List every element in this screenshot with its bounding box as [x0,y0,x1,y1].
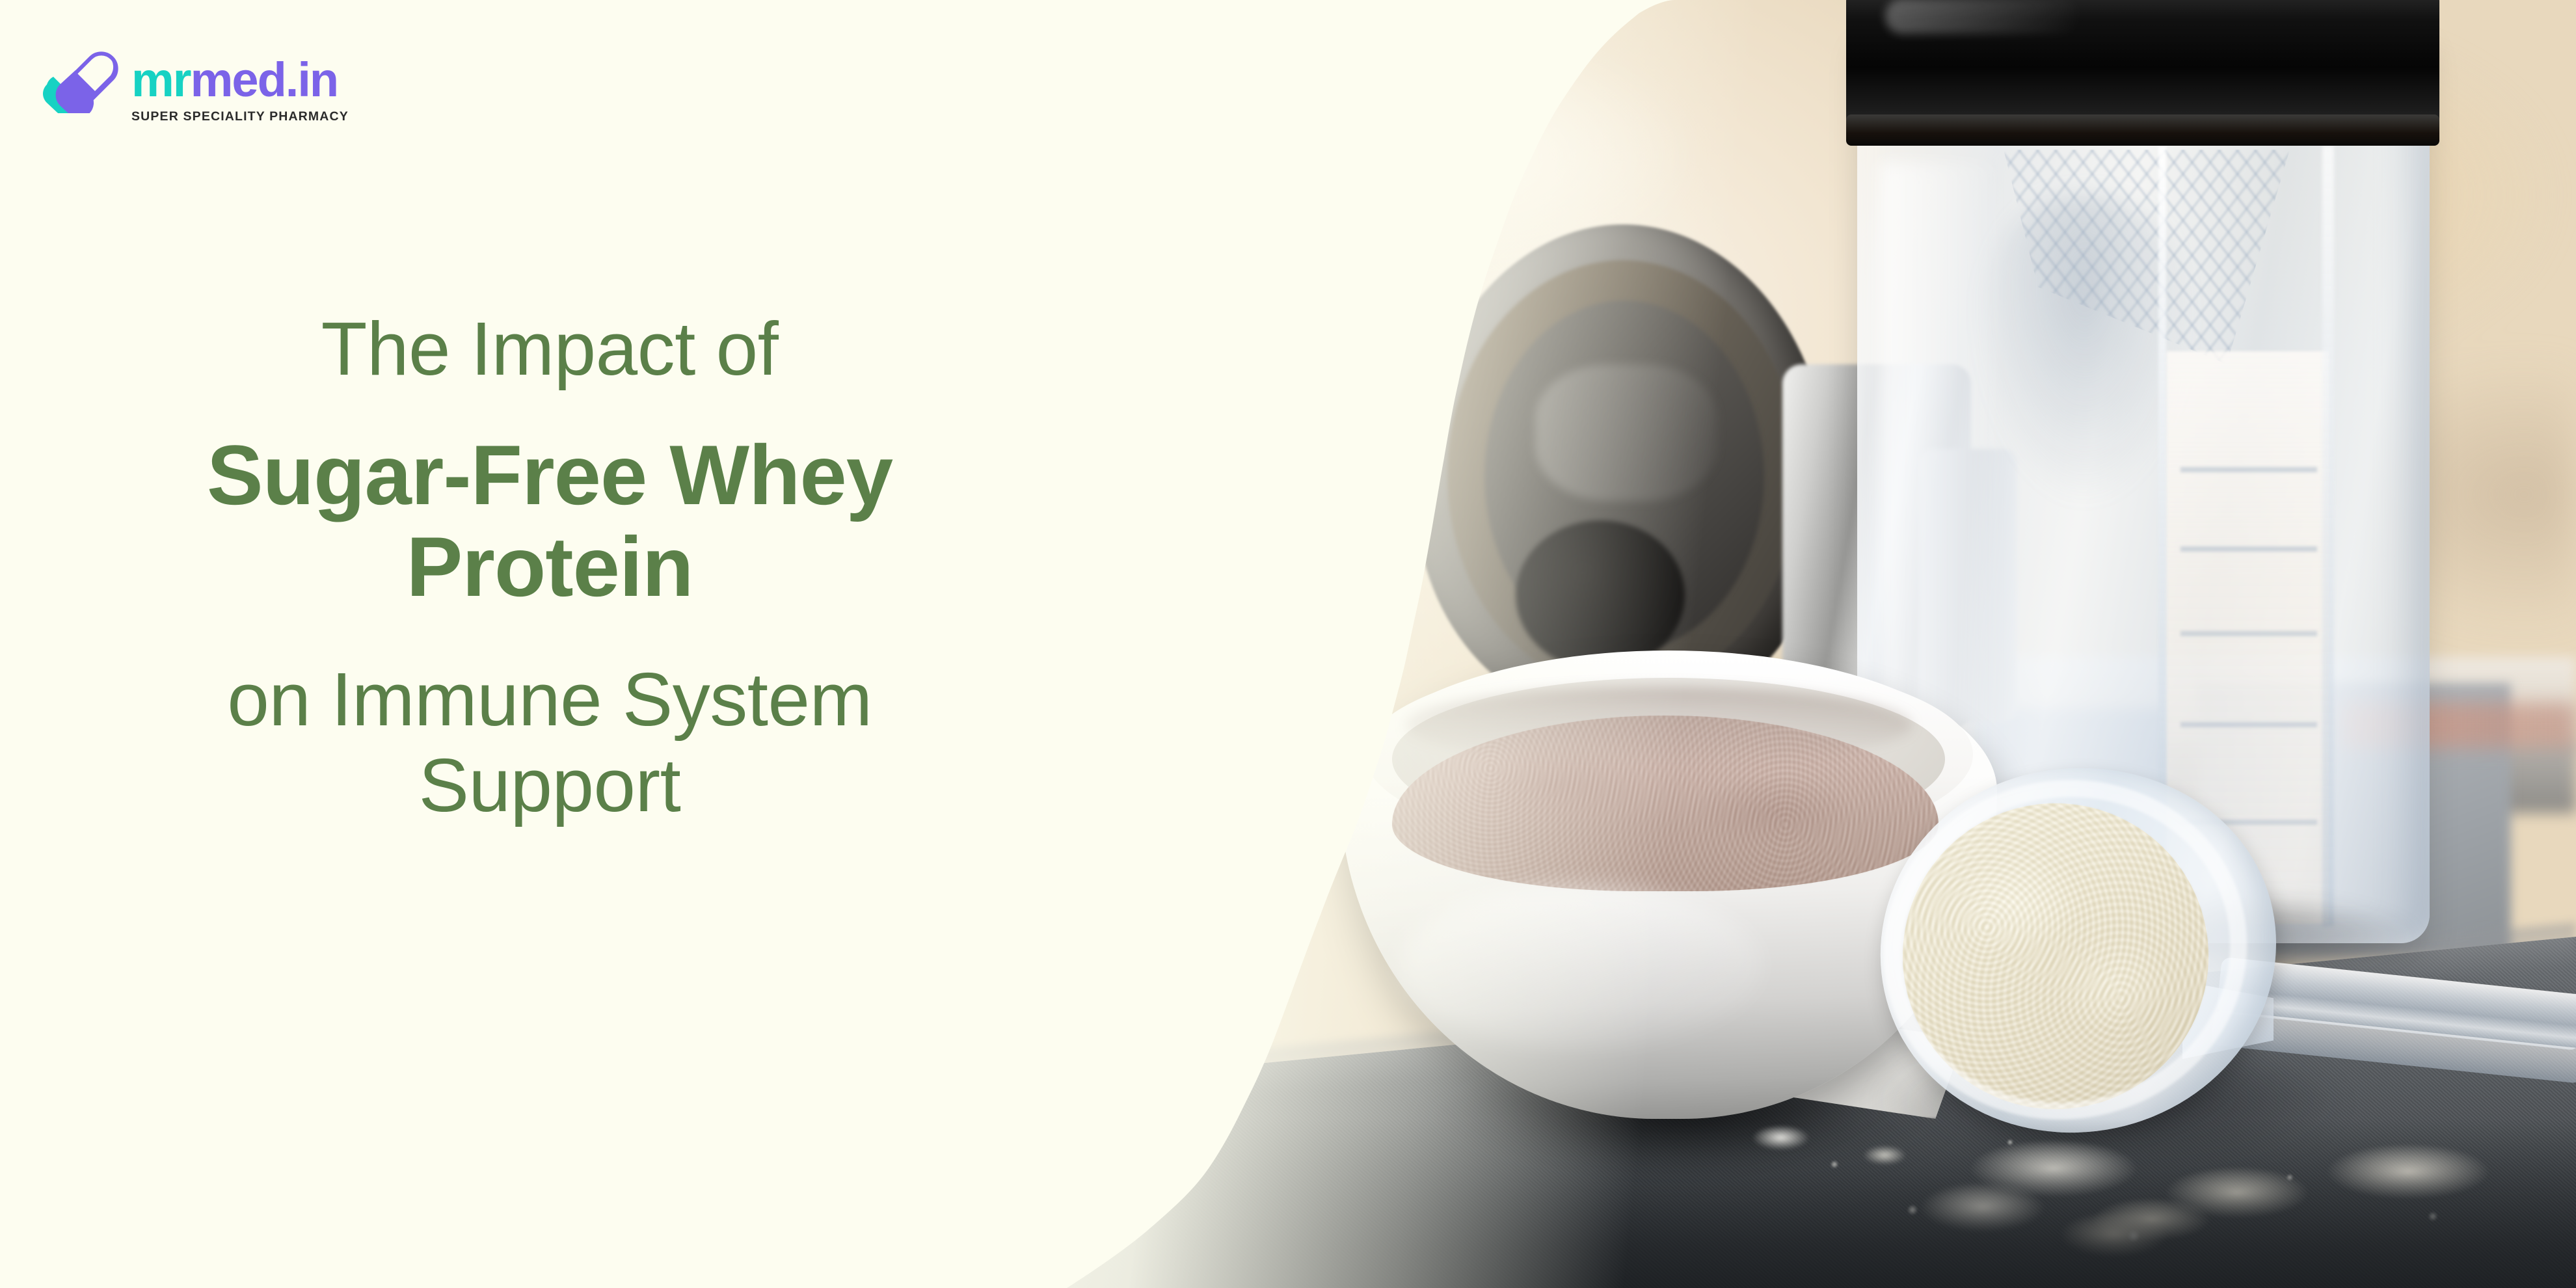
pill-check-icon [40,48,122,113]
logo-wordmark-mr: mr [131,53,191,107]
logo-wordmark-med: med.in [191,53,338,107]
bowl-interior-shadow [1405,686,1912,764]
bowl-gloss-highlight [1399,885,1763,1047]
dumbbell-plate-emboss [1535,364,1717,501]
brand-logo[interactable]: mrmed.in SUPER SPECIALITY PHARMACY [40,48,349,124]
headline-line-3: on Immune System Support [0,656,1099,828]
dumbbell-plate-hole [1516,520,1685,670]
shaker-lid-lip [1846,114,2439,146]
logo-tagline: SUPER SPECIALITY PHARMACY [131,109,349,124]
mat-bottom-vignette [976,1119,2576,1288]
content-pane: mrmed.in SUPER SPECIALITY PHARMACY The I… [0,0,1210,1288]
logo-text-block: mrmed.in SUPER SPECIALITY PHARMACY [131,48,349,124]
headline-line-1: The Impact of [0,306,1099,392]
headline-line-2: Sugar-Free Whey Protein [0,429,1099,612]
logo-wordmark: mrmed.in [131,56,349,104]
shaker-seam-second [2322,146,2334,926]
page-title: The Impact of Sugar-Free Whey Protein on… [0,306,1099,828]
blog-banner: mrmed.in SUPER SPECIALITY PHARMACY The I… [0,0,2576,1288]
